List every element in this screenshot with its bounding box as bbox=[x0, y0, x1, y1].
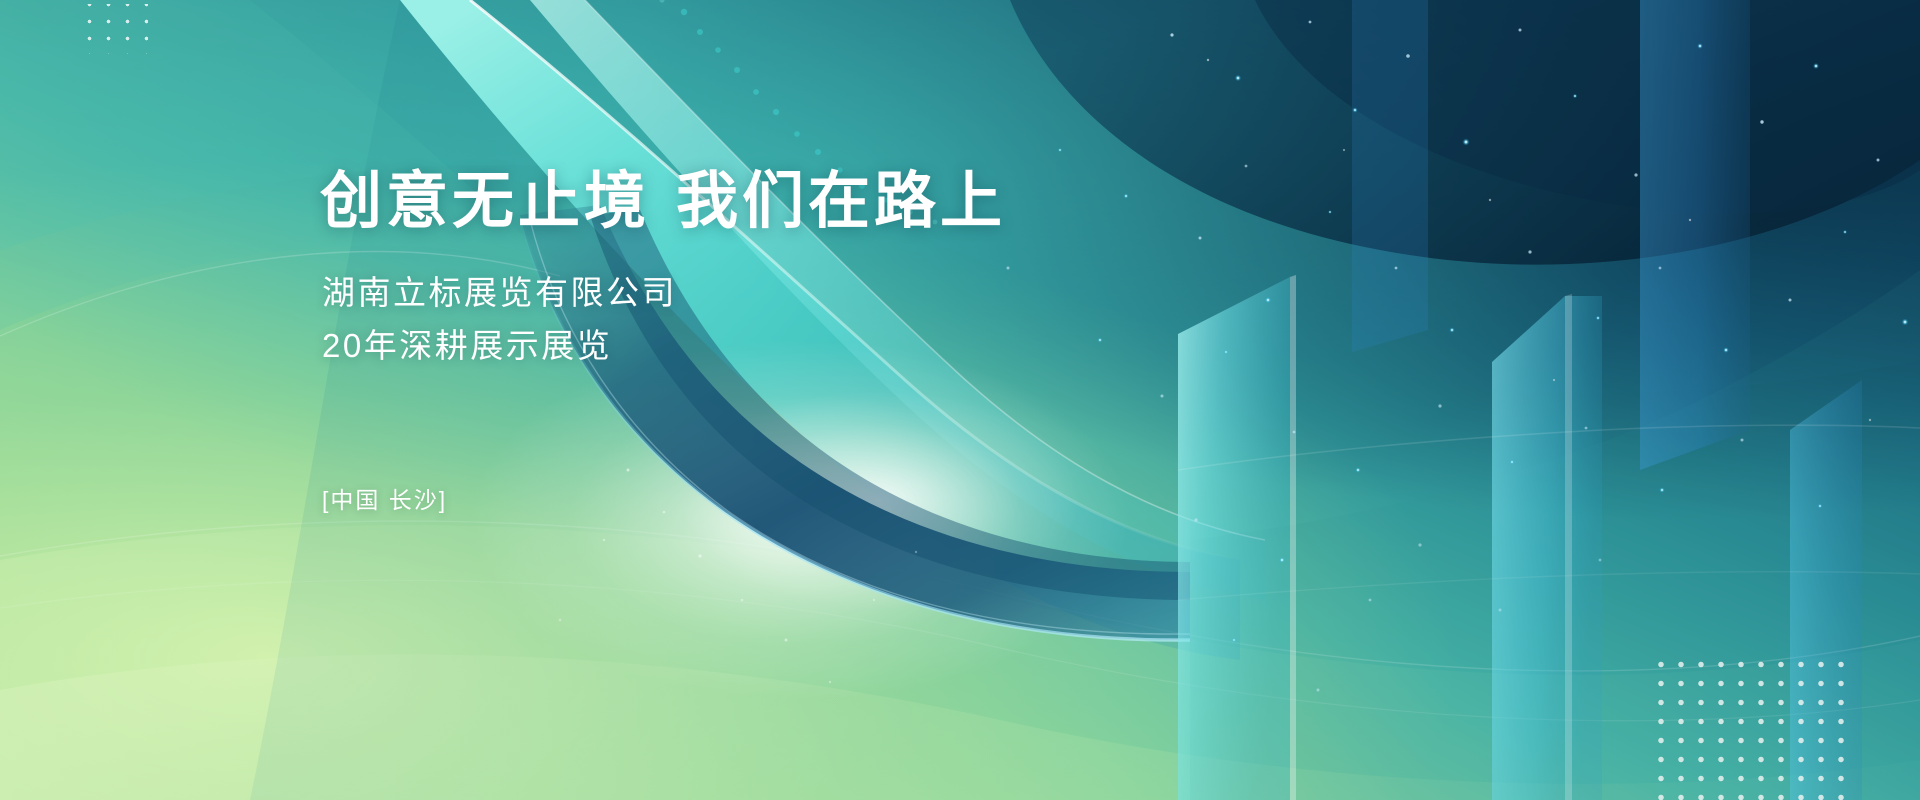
dot-grid-bottom-right-icon bbox=[1648, 650, 1858, 800]
subtitle-line-1: 湖南立标展览有限公司 bbox=[322, 266, 677, 319]
banner-location: [中国 长沙] bbox=[322, 481, 447, 515]
banner-headline: 创意无止境我们在路上 bbox=[320, 168, 1006, 236]
dot-grid-top-left-icon bbox=[78, 4, 148, 54]
headline-part-2: 我们在路上 bbox=[676, 167, 1006, 236]
headline-part-1: 创意无止境 bbox=[320, 167, 650, 236]
banner-subtitle-block: 湖南立标展览有限公司 20年深耕展示展览 bbox=[322, 266, 677, 373]
banner-text-content: 创意无止境我们在路上 湖南立标展览有限公司 20年深耕展示展览 [中国 长沙] bbox=[320, 0, 1420, 800]
subtitle-line-2: 20年深耕展示展览 bbox=[322, 319, 677, 372]
banner-canvas: 创意无止境我们在路上 湖南立标展览有限公司 20年深耕展示展览 [中国 长沙] bbox=[0, 0, 1920, 800]
